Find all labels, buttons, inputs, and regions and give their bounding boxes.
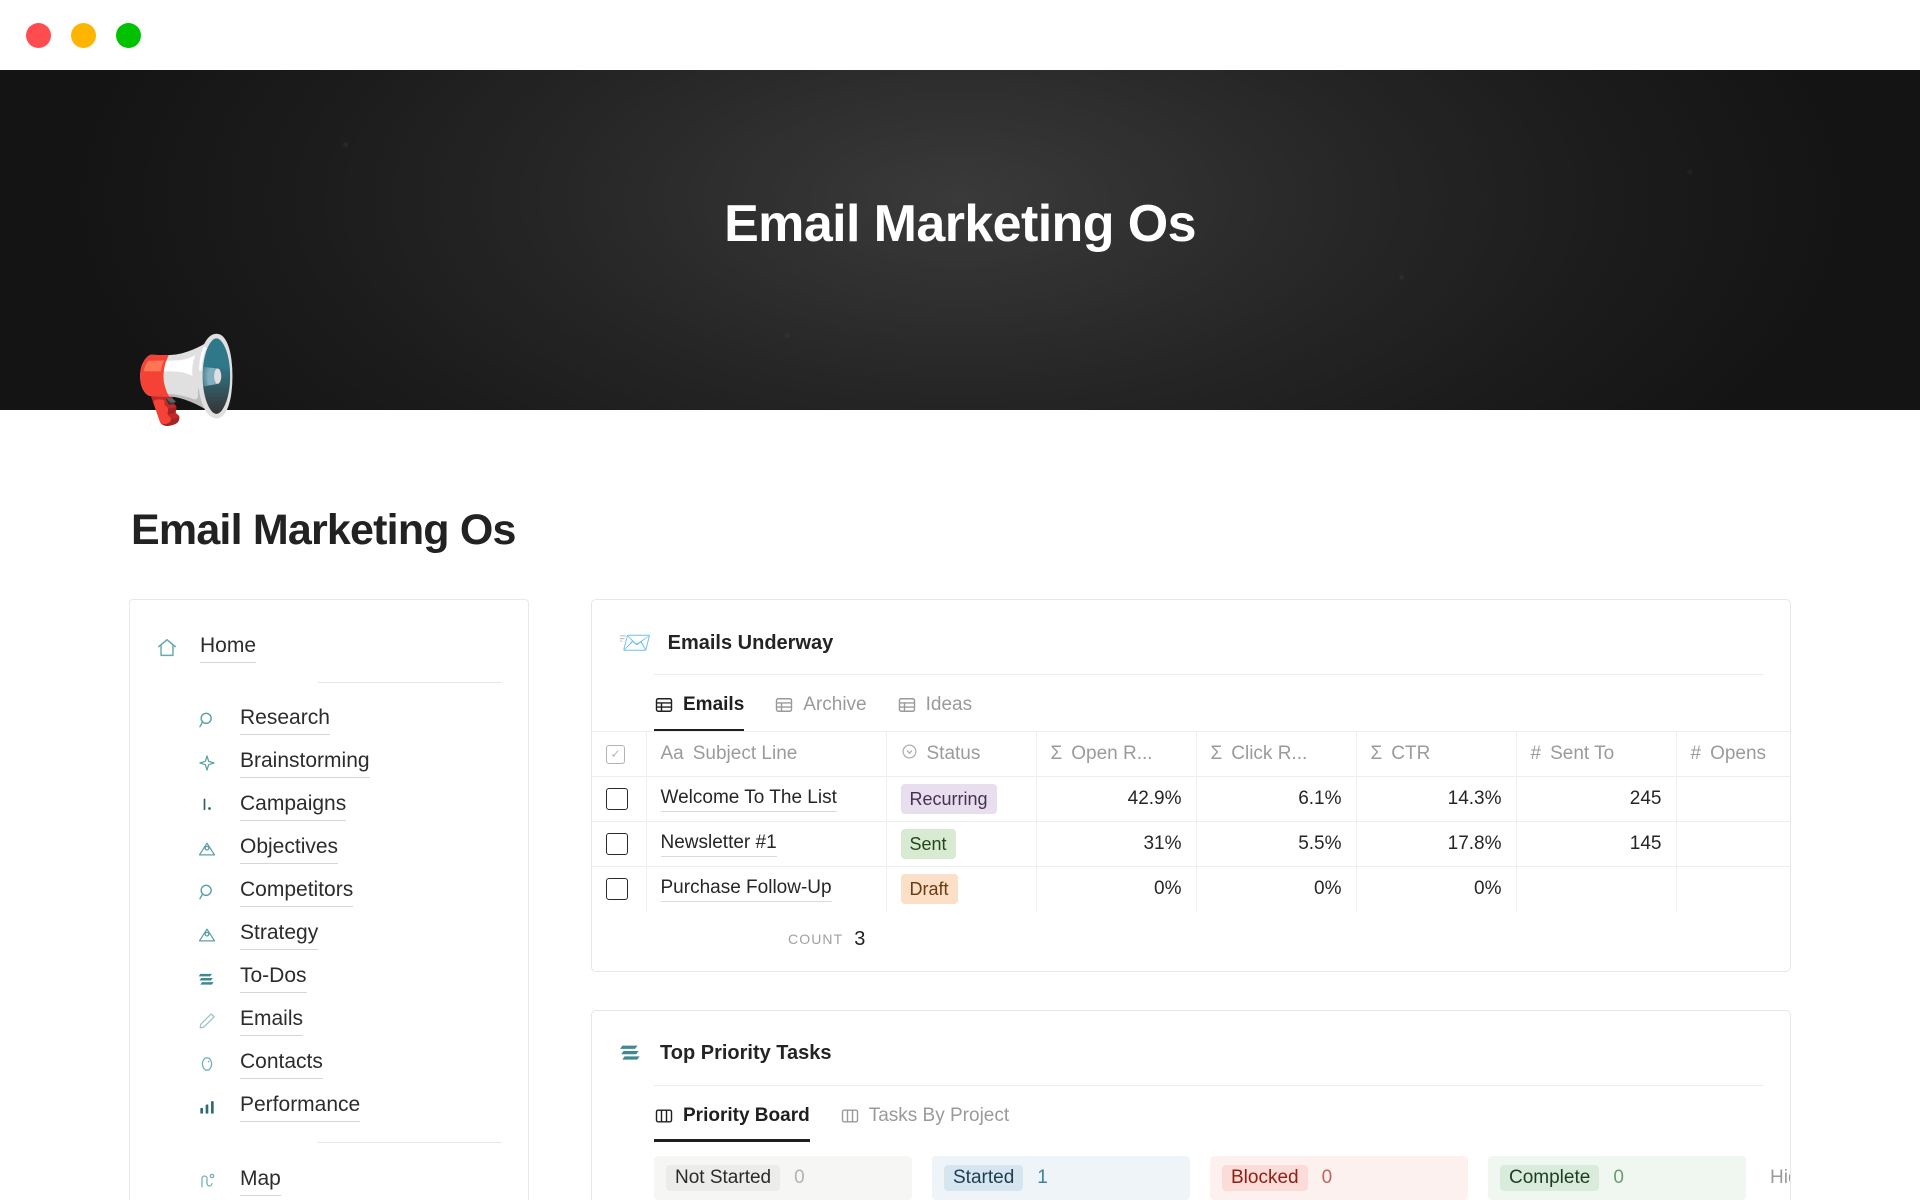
cell-subject: Welcome To The List <box>646 777 886 822</box>
sidebar-item-label: Map <box>240 1165 281 1195</box>
traffic-lights <box>26 23 141 48</box>
sidebar-item-performance[interactable]: Performance <box>130 1085 528 1128</box>
sidebar-item-label: Emails <box>240 1005 303 1035</box>
column-count: 0 <box>1613 1167 1624 1189</box>
pencil-icon <box>196 1010 218 1032</box>
sidebar-item-brainstorming[interactable]: Brainstorming <box>130 741 528 784</box>
bar-chart-icon <box>196 1096 218 1118</box>
route-icon <box>196 1170 218 1192</box>
cell-ctr: 17.8% <box>1356 822 1516 867</box>
tab-label: Emails <box>683 694 744 716</box>
column-click-rate[interactable]: ΣClick R... <box>1196 732 1356 777</box>
close-window-button[interactable] <box>26 23 51 48</box>
cell-subject: Newsletter #1 <box>646 822 886 867</box>
magnifier-icon <box>196 709 218 731</box>
column-count: 0 <box>1322 1167 1333 1189</box>
card-header: 📨 Emails Underway <box>592 622 1790 664</box>
checkbox-icon: ✓ <box>606 745 625 764</box>
column-label: CTR <box>1391 743 1430 765</box>
table-icon <box>774 695 794 715</box>
top-priority-tasks-card: Top Priority Tasks Priority Board <box>591 1010 1791 1200</box>
cell-ctr: 0% <box>1356 867 1516 912</box>
status-badge: Sent <box>901 829 956 859</box>
column-label: Opens <box>1710 743 1766 765</box>
sparkle-icon <box>196 752 218 774</box>
column-label: Open R... <box>1071 743 1152 765</box>
sidebar-item-contacts[interactable]: Contacts <box>130 1042 528 1085</box>
card-header: Top Priority Tasks <box>592 1033 1790 1075</box>
cell-click-rate: 5.5% <box>1196 822 1356 867</box>
column-subject-line[interactable]: AaSubject Line <box>646 732 886 777</box>
board-icon <box>840 1106 860 1126</box>
cell-opens: 105 <box>1676 777 1791 822</box>
cell-status: Draft <box>886 867 1036 912</box>
row-checkbox[interactable] <box>592 867 646 912</box>
checkbox-icon[interactable] <box>606 788 628 810</box>
type-icon-text: Aa <box>661 743 684 765</box>
cell-ctr: 14.3% <box>1356 777 1516 822</box>
column-sent-to[interactable]: #Sent To <box>1516 732 1676 777</box>
sidebar-item-map[interactable]: Map <box>130 1159 528 1200</box>
sidebar-item-objectives[interactable]: Objectives <box>130 827 528 870</box>
sidebar-item-label: To-Dos <box>240 962 307 992</box>
maximize-window-button[interactable] <box>116 23 141 48</box>
stack-icon <box>196 967 218 989</box>
card-divider <box>654 1085 1764 1086</box>
board-column-blocked: Blocked 0 <box>1210 1156 1468 1200</box>
megaphone-icon[interactable]: 📢 <box>134 338 239 422</box>
column-select-all[interactable]: ✓ <box>592 732 646 777</box>
sidebar-item-label: Campaigns <box>240 790 346 820</box>
row-checkbox[interactable] <box>592 822 646 867</box>
type-icon-sigma: Σ <box>1371 743 1383 765</box>
cell-status: Sent <box>886 822 1036 867</box>
column-label: Sent To <box>1550 743 1614 765</box>
table-icon <box>654 695 674 715</box>
tab-priority-board[interactable]: Priority Board <box>654 1090 810 1142</box>
cell-status: Recurring <box>886 777 1036 822</box>
magnifier-icon <box>196 881 218 903</box>
board-column-complete: Complete 0 <box>1488 1156 1746 1200</box>
megaphone-line-icon <box>196 795 218 817</box>
tab-label: Tasks By Project <box>869 1105 1009 1127</box>
tab-archive[interactable]: Archive <box>774 679 866 731</box>
cell-sent-to: 245 <box>1516 777 1676 822</box>
tab-emails[interactable]: Emails <box>654 679 744 731</box>
checkbox-icon[interactable] <box>606 833 628 855</box>
cell-sent-to <box>1516 867 1676 912</box>
select-icon <box>901 743 918 766</box>
priority-board: Not Started 0 HP 🔥 1 <box>592 1144 1790 1200</box>
emails-tablist: Emails Archive Ideas <box>592 679 1790 731</box>
table-icon <box>897 695 917 715</box>
tab-label: Archive <box>803 694 866 716</box>
card-divider <box>654 674 1764 675</box>
sidebar-item-label: Objectives <box>240 833 338 863</box>
column-open-rate[interactable]: ΣOpen R... <box>1036 732 1196 777</box>
table-row[interactable]: Purchase Follow-Up Draft 0% 0% 0% <box>592 867 1791 912</box>
sidebar-divider-bottom <box>318 1142 502 1143</box>
cover-title: Email Marketing Os <box>0 194 1920 254</box>
sidebar-item-label: Brainstorming <box>240 747 370 777</box>
count-label: COUNT <box>788 931 843 947</box>
status-badge: Draft <box>901 874 958 904</box>
table-header-row: ✓ AaSubject Line Status <box>592 732 1791 777</box>
emails-table: ✓ AaSubject Line Status <box>592 731 1791 912</box>
column-opens[interactable]: #Opens <box>1676 732 1791 777</box>
card-title: Emails Underway <box>668 632 834 655</box>
home-icon <box>156 637 178 659</box>
type-icon-sigma: Σ <box>1211 743 1223 765</box>
column-status[interactable]: Status <box>886 732 1036 777</box>
table-footer-count[interactable]: COUNT 3 <box>762 912 1790 971</box>
board-column-started: Started 1 <box>932 1156 1190 1200</box>
cell-sent-to: 145 <box>1516 822 1676 867</box>
sidebar-item-label: Strategy <box>240 919 318 949</box>
tab-tasks-by-project[interactable]: Tasks By Project <box>840 1090 1009 1142</box>
tab-label: Priority Board <box>683 1105 810 1127</box>
sidebar-nav: Home Research Brainstorming Campaign <box>129 599 529 1200</box>
main-content: 📨 Emails Underway Emails <box>591 599 1791 1200</box>
type-icon-number: # <box>1531 743 1542 765</box>
board-column-not-started: Not Started 0 HP 🔥 1 <box>654 1156 912 1200</box>
drop-icon <box>196 1053 218 1075</box>
column-label: Subject Line <box>693 743 798 765</box>
sidebar-item-label: Home <box>200 632 256 662</box>
mountain-icon <box>196 924 218 946</box>
column-count: 0 <box>794 1167 805 1189</box>
column-label: Status <box>927 743 981 765</box>
table-row[interactable]: Newsletter #1 Sent 31% 5.5% 17.8% 145 45 <box>592 822 1791 867</box>
column-title: Started <box>944 1165 1023 1191</box>
sidebar-item-home[interactable]: Home <box>130 626 528 669</box>
sidebar-item-competitors[interactable]: Competitors <box>130 870 528 913</box>
table-row[interactable]: Welcome To The List Recurring 42.9% 6.1%… <box>592 777 1791 822</box>
sidebar-item-emails[interactable]: Emails <box>130 999 528 1042</box>
column-title: Blocked <box>1222 1165 1308 1191</box>
cell-click-rate: 0% <box>1196 867 1356 912</box>
sidebar-item-strategy[interactable]: Strategy <box>130 913 528 956</box>
cell-subject: Purchase Follow-Up <box>646 867 886 912</box>
sidebar-item-research[interactable]: Research <box>130 698 528 741</box>
type-icon-sigma: Σ <box>1051 743 1063 765</box>
sidebar-item-campaigns[interactable]: Campaigns <box>130 784 528 827</box>
type-icon-number: # <box>1691 743 1702 765</box>
cell-opens: 45 <box>1676 822 1791 867</box>
cell-open-rate: 42.9% <box>1036 777 1196 822</box>
cell-open-rate: 31% <box>1036 822 1196 867</box>
emails-underway-card: 📨 Emails Underway Emails <box>591 599 1791 972</box>
cover-banner: Email Marketing Os <box>0 70 1920 410</box>
subject-text[interactable]: Purchase Follow-Up <box>661 876 832 902</box>
minimize-window-button[interactable] <box>71 23 96 48</box>
sidebar-item-label: Competitors <box>240 876 353 906</box>
stack-icon <box>618 1038 644 1069</box>
mountain-icon <box>196 838 218 860</box>
board-icon <box>654 1106 674 1126</box>
cell-opens <box>1676 867 1791 912</box>
board-column-hidden: Hid Ar <box>1766 1156 1791 1200</box>
column-title: Complete <box>1500 1165 1599 1191</box>
status-badge: Recurring <box>901 784 997 814</box>
tab-ideas[interactable]: Ideas <box>897 679 972 731</box>
cell-open-rate: 0% <box>1036 867 1196 912</box>
window-titlebar <box>0 0 1920 70</box>
column-label: Click R... <box>1231 743 1307 765</box>
row-checkbox[interactable] <box>592 777 646 822</box>
page-title: Email Marketing Os <box>131 506 1920 555</box>
subject-text[interactable]: Newsletter #1 <box>661 831 777 857</box>
cell-click-rate: 6.1% <box>1196 777 1356 822</box>
tasks-tablist: Priority Board Tasks By Project <box>592 1090 1790 1142</box>
column-title: Not Started <box>666 1165 780 1191</box>
sidebar-item-label: Research <box>240 704 330 734</box>
count-value: 3 <box>854 928 865 951</box>
card-title: Top Priority Tasks <box>660 1042 832 1065</box>
hidden-columns-label[interactable]: Hid <box>1766 1156 1791 1189</box>
sidebar-item-label: Contacts <box>240 1048 323 1078</box>
sidebar-item-label: Performance <box>240 1091 360 1121</box>
column-ctr[interactable]: ΣCTR <box>1356 732 1516 777</box>
subject-text[interactable]: Welcome To The List <box>661 786 837 812</box>
sidebar-item-to-dos[interactable]: To-Dos <box>130 956 528 999</box>
sidebar-divider-top <box>318 682 502 683</box>
incoming-envelope-icon: 📨 <box>618 630 652 657</box>
checkbox-icon[interactable] <box>606 878 628 900</box>
column-count: 1 <box>1037 1167 1048 1189</box>
tab-label: Ideas <box>926 694 972 716</box>
